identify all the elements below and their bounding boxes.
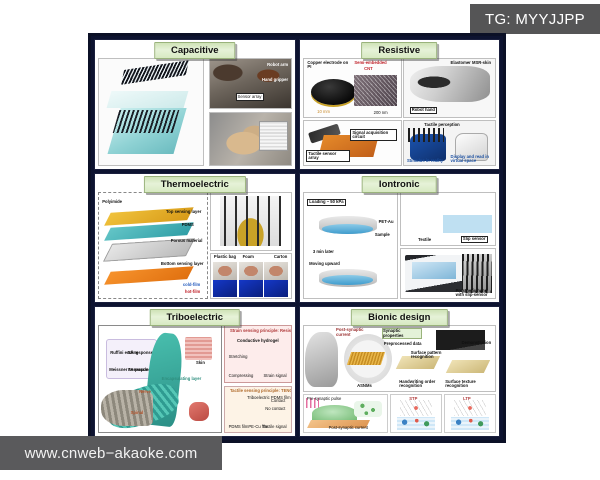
label-sample: Sample xyxy=(375,233,390,237)
capacitive-electrode-strip xyxy=(121,61,189,85)
panel-title-resistive: Resistive xyxy=(361,42,437,59)
label-skin: Skin xyxy=(196,361,205,365)
panel-capacitive: Capacitive Robot arm Hand gripper Sensor… xyxy=(94,39,296,170)
label-stp: STP xyxy=(409,397,417,401)
label-porous-material: Porous material xyxy=(171,239,203,243)
label-tactile-sensor-array: Tactile sensor array xyxy=(306,150,349,162)
bionic-device-schematic: Pre-synaptic pulse Post-synaptic current xyxy=(303,394,389,433)
thermoelectric-glove-photo xyxy=(210,192,292,251)
resistive-sensor-array-schematic: Signal acquisition circuit Tactile senso… xyxy=(303,120,403,165)
hand-test-image-3 xyxy=(264,262,288,280)
label-3-min-later: 3 min later xyxy=(313,250,334,254)
panel-title-iontronic: Iontronic xyxy=(362,176,437,193)
label-top-sensing-layer: Top sensing layer xyxy=(166,210,201,214)
bottom-sensing-layer-shape xyxy=(104,266,193,284)
hand-test-image-2 xyxy=(239,262,263,280)
skin-cross-section xyxy=(185,337,212,360)
triboelectric-bioinspired-schematic: Ruffini ending SA response Meissner corp… xyxy=(98,325,222,433)
label-textile: Textile xyxy=(418,238,431,242)
ionic-liquid-layer-bottom xyxy=(322,275,373,285)
label-surface-texture-recognition: Surface texture recognition xyxy=(445,380,491,389)
humanoid-robot-illustration xyxy=(305,332,338,388)
msr-skin-robot-hand-image xyxy=(410,66,490,102)
watermark-text: www.cnweb−akaoke.com xyxy=(25,445,198,462)
panel-body-iontronic: Loading ~ 50 kPa PET-Au Sample 3 min lat… xyxy=(300,174,500,303)
label-scale-200nm: 200 nm xyxy=(374,111,388,115)
tag-badge: TG: MYYJJPP xyxy=(470,4,600,34)
iontronic-slip-sensor-photo: Textile Slip sensor xyxy=(400,192,496,246)
tag-badge-text: TG: MYYJJPP xyxy=(485,11,585,28)
label-semi-embedded: Semi-embedded xyxy=(354,61,386,65)
label-strain-signal: Strain signal xyxy=(264,374,287,378)
label-asnms: ASNMs xyxy=(357,384,372,388)
label-robot-hand: Robot hand xyxy=(410,107,437,114)
label-nerve: Nerve xyxy=(139,390,151,394)
laptop-screen xyxy=(412,262,456,279)
thermoelectric-material-tests: Plastic bag Foam Carton xyxy=(210,253,292,299)
thermal-map-1 xyxy=(213,280,237,298)
crocodile-illustration xyxy=(101,390,152,426)
site-watermark: www.cnweb−akaoke.com xyxy=(0,436,222,470)
label-scale-10mm: 10 mm xyxy=(317,110,330,114)
capacitive-schematic xyxy=(98,58,204,166)
stp-ion-layer xyxy=(397,417,435,430)
label-cold-film: cold-film xyxy=(183,283,200,287)
thermoelectric-layer-stack: Polyimide Top sensing layer PDMS Porous … xyxy=(98,192,208,300)
ionic-liquid-layer-top xyxy=(322,224,373,234)
panel-body-thermoelectric: Polyimide Top sensing layer PDMS Porous … xyxy=(95,174,295,303)
label-strain-sensing-principle: Strain sensing principle: Resistive xyxy=(230,329,292,333)
iontronic-demo-photo: Prosthetic hand with slip-sensor xyxy=(400,248,496,300)
resistive-robot-hand-photo: Elastomer MSR-skin Robot hand xyxy=(403,58,496,118)
triboelectric-tactile-principle: Tactile sensing principle: TENG PDMS fil… xyxy=(224,386,292,433)
label-post-synaptic-current-2: Post-synaptic current xyxy=(329,426,368,430)
label-demonstration: Demonstration xyxy=(462,341,492,345)
capacitive-hand-photo xyxy=(209,112,292,165)
ion-distribution-diagram xyxy=(354,401,382,416)
label-plastic-bag: Plastic bag xyxy=(214,255,236,259)
label-moving-upward: Moving upward xyxy=(309,262,340,266)
figure-container: Capacitive Robot arm Hand gripper Sensor… xyxy=(88,33,506,443)
ltp-network-graphic xyxy=(454,400,486,416)
label-pet-au: PET-Au xyxy=(379,220,394,224)
label-stimulus-in-reality: Stimulus in reality xyxy=(407,159,447,163)
label-no-contact: No contact xyxy=(265,407,285,411)
label-tactile-perception: Tactile perception xyxy=(424,123,460,127)
bionic-system-overview: Post-synaptic current Synaptic propertie… xyxy=(303,325,497,392)
capacitive-dielectric-plate xyxy=(107,91,189,108)
label-stretching: Stretching xyxy=(229,355,248,359)
label-slip-sensor: Slip sensor xyxy=(461,236,488,243)
resistive-electrode-schematic: Copper electrode on PI Semi-embedded CNT… xyxy=(303,58,403,118)
label-pre-synaptic-pulse: Pre-synaptic pulse xyxy=(307,397,341,401)
ltp-ion-layer xyxy=(451,417,489,430)
label-cnt: CNT xyxy=(364,67,373,71)
panel-title-capacitive: Capacitive xyxy=(154,42,236,59)
panel-resistive: Resistive Copper electrode on PI Semi-em… xyxy=(299,39,501,170)
panel-body-bionic-design: Post-synaptic current Synaptic propertie… xyxy=(300,307,500,436)
capacitive-data-grid xyxy=(259,121,288,152)
label-robot-arm: Robot arm xyxy=(267,63,288,67)
label-synaptic-properties: Synaptic properties xyxy=(382,328,422,339)
label-pdms: PDMS xyxy=(182,223,194,227)
organ-illustration xyxy=(189,402,208,421)
label-post-synaptic-current: Post-synaptic current xyxy=(336,328,374,337)
panel-grid: Capacitive Robot arm Hand gripper Sensor… xyxy=(94,39,500,437)
stp-network-graphic xyxy=(400,400,432,416)
panel-body-triboelectric: Ruffini ending SA response Meissner corp… xyxy=(95,307,295,436)
label-surface-pattern-recognition: Surface pattern recognition xyxy=(411,351,453,360)
triboelectric-strain-principle: Strain sensing principle: Resistive Cond… xyxy=(224,325,292,383)
label-sa-response: SA response xyxy=(128,351,153,355)
label-spinal: Spinal xyxy=(131,411,144,415)
thermal-map-3 xyxy=(264,280,288,298)
label-compressing: Compressing xyxy=(229,374,254,378)
capacitive-coil-array xyxy=(112,110,179,133)
panel-bionic-design: Bionic design Post-synaptic current Syna… xyxy=(299,306,501,437)
bionic-ltp-diagram: LTP xyxy=(444,394,496,433)
laptop-image xyxy=(405,255,463,293)
bionic-stp-diagram: STP xyxy=(390,394,442,433)
hand-test-image-1 xyxy=(213,262,237,280)
label-carton: Carton xyxy=(274,255,288,259)
surface-texture-stack xyxy=(446,360,491,373)
label-hand-gripper: Hand gripper xyxy=(262,78,288,82)
label-foam: Foam xyxy=(243,255,254,259)
capacitive-robot-arm-photo: Robot arm Hand gripper Sensor array xyxy=(209,58,292,109)
iontronic-loading-schematic: Loading ~ 50 kPa PET-Au Sample 3 min lat… xyxy=(303,192,399,300)
label-hot-film: hot-film xyxy=(185,290,200,294)
panel-thermoelectric: Thermoelectric Polyimide Top sensing lay… xyxy=(94,173,296,304)
synaptic-chip xyxy=(347,352,386,365)
label-loading-50kpa: Loading ~ 50 kPa xyxy=(307,199,345,206)
label-display-virtual-space: Display and read in virtual space xyxy=(451,155,493,164)
label-tactile-signal: Tactile signal xyxy=(263,425,287,429)
panel-triboelectric: Triboelectric Ruffini ending SA response… xyxy=(94,306,296,437)
label-bottom-sensing-layer: Bottom sensing layer xyxy=(161,262,204,266)
label-handwriting-order-recognition: Handwriting order recognition xyxy=(399,380,445,389)
label-elastomer-msr-skin: Elastomer MSR-skin xyxy=(451,61,493,65)
sensor-glove-image xyxy=(220,196,281,246)
label-prosthetic-hand-slip-sensor: Prosthetic hand with slip-sensor xyxy=(456,289,494,298)
panel-body-capacitive: Robot arm Hand gripper Sensor array xyxy=(95,40,295,169)
label-tactile-sensing-principle: Tactile sensing principle: TENG xyxy=(230,389,292,393)
panel-title-bionic-design: Bionic design xyxy=(351,309,447,326)
label-conductive-hydrogel: Conductive hydrogel xyxy=(237,339,279,343)
panel-body-resistive: Copper electrode on PI Semi-embedded CNT… xyxy=(300,40,500,169)
label-preprocessed-data: Preprocessed data xyxy=(384,342,422,346)
label-polyimide: Polyimide xyxy=(102,200,122,204)
label-encapsulating-layer: Encapsulating layer xyxy=(162,377,202,381)
finger-sensor-strips xyxy=(408,128,444,142)
panel-iontronic: Iontronic Loading ~ 50 kPa PET-Au Sample… xyxy=(299,173,501,304)
slip-signal-waveform xyxy=(443,202,492,233)
panel-title-triboelectric: Triboelectric xyxy=(150,309,241,326)
label-sensor-array: Sensor array xyxy=(236,93,264,100)
label-copper-electrode: Copper electrode on PI xyxy=(307,61,352,70)
resistive-tactile-perception-photo: Tactile perception Stimulus in reality D… xyxy=(403,120,496,165)
thermal-map-2 xyxy=(239,280,263,298)
electrode-disc xyxy=(311,79,356,105)
panel-title-thermoelectric: Thermoelectric xyxy=(144,176,246,193)
label-pdms-film: PDMS film xyxy=(229,425,249,429)
label-contact: Contact xyxy=(271,399,285,403)
sem-micrograph xyxy=(354,75,397,105)
label-signal-acquisition-circuit: Signal acquisition circuit xyxy=(350,129,397,141)
label-ltp: LTP xyxy=(463,397,471,401)
